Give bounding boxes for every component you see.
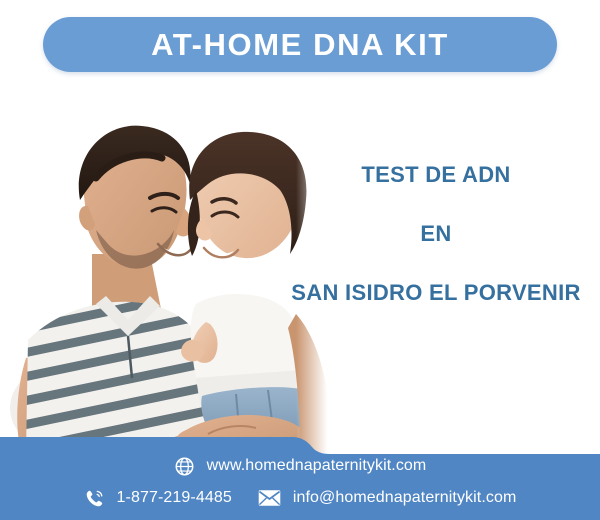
- phone-item[interactable]: 1-877-219-4485: [84, 488, 232, 509]
- footer-row-contact: 1-877-219-4485 info@homednapaternitykit.…: [0, 484, 600, 512]
- website-item[interactable]: www.homednapaternitykit.com: [174, 456, 427, 477]
- promo-line-location: SAN ISIDRO EL PORVENIR: [272, 278, 600, 308]
- poster-canvas: AT-HOME DNA KIT: [0, 0, 600, 520]
- promo-line-service: TEST DE ADN: [272, 160, 600, 190]
- phone-label: 1-877-219-4485: [117, 489, 232, 507]
- email-label: info@homednapaternitykit.com: [293, 489, 517, 507]
- footer-content: www.homednapaternitykit.com 1-877-219-44…: [0, 450, 600, 520]
- promo-line-preposition: EN: [272, 219, 600, 249]
- page-title: AT-HOME DNA KIT: [151, 29, 449, 60]
- phone-icon: [84, 488, 105, 509]
- globe-icon: [174, 456, 195, 477]
- header-band: AT-HOME DNA KIT: [0, 0, 600, 90]
- footer-row-website: www.homednapaternitykit.com: [0, 452, 600, 480]
- email-item[interactable]: info@homednapaternitykit.com: [258, 489, 517, 507]
- title-pill: AT-HOME DNA KIT: [43, 17, 557, 72]
- envelope-icon: [258, 489, 281, 507]
- website-label: www.homednapaternitykit.com: [207, 457, 427, 475]
- promo-text-block: TEST DE ADN EN SAN ISIDRO EL PORVENIR: [272, 160, 600, 308]
